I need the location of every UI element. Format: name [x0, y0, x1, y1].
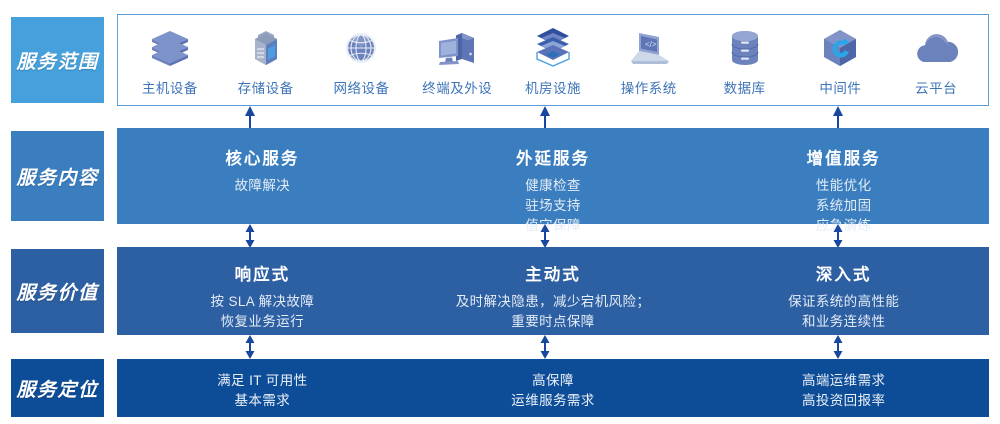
positioning-line: 高保障 — [511, 371, 594, 391]
arrow-content-to-value-center — [538, 224, 552, 248]
positioning-line: 满足 IT 可用性 — [217, 371, 307, 391]
arrow-value-to-position-center — [538, 335, 552, 359]
row-label-service-scope: 服务范围 — [11, 17, 104, 103]
value-column-lines: 及时解决隐患，减少宕机风险； 重要时点保障 — [456, 292, 651, 332]
content-column-lines: 健康检查 驻场支持 值守保障 — [525, 176, 581, 236]
scope-item-label: 存储设备 — [238, 77, 294, 97]
value-column-title: 主动式 — [525, 261, 581, 285]
scope-item-grid: 主机设备 存储设备 — [118, 15, 988, 105]
diagram-canvas: 服务范围 — [0, 0, 1000, 424]
svg-text:</>: </> — [645, 40, 657, 49]
content-line: 健康检查 — [525, 176, 581, 196]
content-column-title: 核心服务 — [225, 145, 299, 169]
value-column-proactive[interactable]: 主动式 及时解决隐患，减少宕机风险； 重要时点保障 — [408, 247, 699, 335]
content-column-core-service[interactable]: 核心服务 故障解决 — [117, 128, 408, 224]
arrow-content-to-value-left — [243, 224, 257, 248]
content-line: 性能优化 — [816, 176, 872, 196]
positioning-line: 基本需求 — [217, 391, 307, 411]
row-label-text: 服务价值 — [16, 278, 98, 305]
positioning-line: 高投资回报率 — [802, 391, 885, 411]
arrow-value-to-position-right — [831, 335, 845, 359]
arrow-content-to-value-right — [831, 224, 845, 248]
content-column-title: 外延服务 — [516, 145, 590, 169]
cloud-platform-icon — [912, 27, 960, 71]
positioning-columns: 满足 IT 可用性 基本需求 高保障 运维服务需求 高端运维需求 高投资回报率 — [117, 359, 989, 417]
server-stack-icon — [148, 27, 192, 71]
row-label-text: 服务范围 — [16, 47, 98, 74]
scope-item-label: 主机设备 — [142, 77, 198, 97]
value-line: 恢复业务运行 — [210, 312, 314, 332]
scope-item-database[interactable]: 数据库 — [697, 27, 793, 97]
positioning-column-lines: 高保障 运维服务需求 — [511, 371, 594, 411]
positioning-line: 运维服务需求 — [511, 391, 594, 411]
positioning-column-lines: 高端运维需求 高投资回报率 — [802, 371, 885, 411]
scope-item-label: 网络设备 — [333, 77, 389, 97]
content-line: 故障解决 — [235, 176, 291, 196]
scope-item-label: 终端及外设 — [422, 77, 492, 97]
storage-array-icon — [244, 27, 288, 71]
row-label-text: 服务定位 — [16, 375, 98, 402]
scope-item-label: 云平台 — [915, 77, 957, 97]
scope-item-label: 操作系统 — [621, 77, 677, 97]
scope-item-operating-system[interactable]: </> 操作系统 — [601, 27, 697, 97]
value-line: 和业务连续性 — [788, 312, 899, 332]
content-column-lines: 故障解决 — [235, 176, 291, 196]
content-line: 系统加固 — [816, 196, 872, 216]
row-label-text: 服务内容 — [16, 163, 98, 190]
positioning-column-lines: 满足 IT 可用性 基本需求 — [217, 371, 307, 411]
content-columns: 核心服务 故障解决 外延服务 健康检查 驻场支持 值守保障 增值服务 性能优化 … — [117, 128, 989, 224]
data-center-rack-icon — [530, 27, 576, 71]
positioning-column-high-assurance[interactable]: 高保障 运维服务需求 — [408, 359, 699, 417]
value-line: 重要时点保障 — [456, 312, 651, 332]
value-column-lines: 保证系统的高性能 和业务连续性 — [788, 292, 899, 332]
globe-network-icon — [339, 27, 383, 71]
value-line: 保证系统的高性能 — [788, 292, 899, 312]
scope-item-host-equipment[interactable]: 主机设备 — [122, 27, 218, 97]
positioning-column-basic[interactable]: 满足 IT 可用性 基本需求 — [117, 359, 408, 417]
value-line: 按 SLA 解决故障 — [210, 292, 314, 312]
positioning-line: 高端运维需求 — [802, 371, 885, 391]
content-column-value-added-service[interactable]: 增值服务 性能优化 系统加固 应急演练 — [698, 128, 989, 224]
scope-item-data-center-facility[interactable]: 机房设施 — [505, 27, 601, 97]
value-column-lines: 按 SLA 解决故障 恢复业务运行 — [210, 292, 314, 332]
desktop-terminal-icon — [434, 27, 480, 71]
scope-item-label: 机房设施 — [525, 77, 581, 97]
operating-system-icon: </> — [626, 27, 672, 71]
row-label-service-content: 服务内容 — [11, 131, 104, 221]
scope-item-label: 中间件 — [819, 77, 861, 97]
panel-service-positioning: 满足 IT 可用性 基本需求 高保障 运维服务需求 高端运维需求 高投资回报率 — [117, 359, 989, 417]
positioning-column-high-end[interactable]: 高端运维需求 高投资回报率 — [698, 359, 989, 417]
scope-item-label: 数据库 — [724, 77, 766, 97]
panel-service-scope: 主机设备 存储设备 — [117, 14, 989, 106]
database-icon — [723, 27, 767, 71]
row-label-service-value: 服务价值 — [11, 249, 104, 333]
scope-item-network-equipment[interactable]: 网络设备 — [314, 27, 410, 97]
value-column-title: 响应式 — [235, 261, 291, 285]
arrow-value-to-position-left — [243, 335, 257, 359]
value-line: 及时解决隐患，减少宕机风险； — [456, 292, 651, 312]
middleware-cube-icon — [818, 27, 862, 71]
scope-item-cloud-platform[interactable]: 云平台 — [888, 27, 984, 97]
content-line: 值守保障 — [525, 216, 581, 236]
panel-service-value: 响应式 按 SLA 解决故障 恢复业务运行 主动式 及时解决隐患，减少宕机风险；… — [117, 247, 989, 335]
value-column-indepth[interactable]: 深入式 保证系统的高性能 和业务连续性 — [698, 247, 989, 335]
content-line: 驻场支持 — [525, 196, 581, 216]
content-column-title: 增值服务 — [807, 145, 881, 169]
panel-service-content: 核心服务 故障解决 外延服务 健康检查 驻场支持 值守保障 增值服务 性能优化 … — [117, 128, 989, 224]
scope-item-middleware[interactable]: 中间件 — [792, 27, 888, 97]
content-column-extended-service[interactable]: 外延服务 健康检查 驻场支持 值守保障 — [408, 128, 699, 224]
value-columns: 响应式 按 SLA 解决故障 恢复业务运行 主动式 及时解决隐患，减少宕机风险；… — [117, 247, 989, 335]
value-column-responsive[interactable]: 响应式 按 SLA 解决故障 恢复业务运行 — [117, 247, 408, 335]
scope-item-storage-equipment[interactable]: 存储设备 — [218, 27, 314, 97]
row-label-service-positioning: 服务定位 — [11, 359, 104, 417]
value-column-title: 深入式 — [816, 261, 872, 285]
scope-item-terminal-peripherals[interactable]: 终端及外设 — [409, 27, 505, 97]
